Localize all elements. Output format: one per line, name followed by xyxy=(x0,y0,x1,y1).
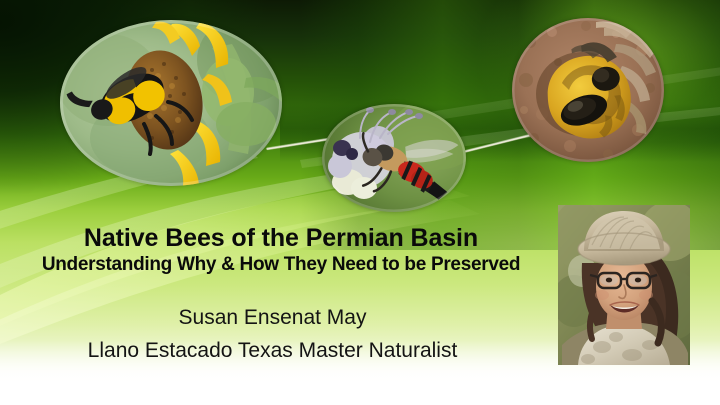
slide-title: Native Bees of the Permian Basin xyxy=(0,224,562,252)
slide-subtitle: Understanding Why & How They Need to be … xyxy=(0,255,562,276)
presenter-portrait xyxy=(558,205,690,365)
author-block: Susan Ensenat May Llano Estacado Texas M… xyxy=(0,305,545,363)
presentation-title-slide: Native Bees of the Permian Basin Underst… xyxy=(0,0,720,405)
photo-striped-bee-on-flower xyxy=(322,104,466,212)
title-block: Native Bees of the Permian Basin Underst… xyxy=(0,224,562,276)
author-organization: Llano Estacado Texas Master Naturalist xyxy=(0,338,545,363)
author-name: Susan Ensenat May xyxy=(0,305,545,330)
photo-bee-in-soil-nest xyxy=(512,18,664,162)
photo-bumble-bee-on-sunflower xyxy=(60,20,282,186)
